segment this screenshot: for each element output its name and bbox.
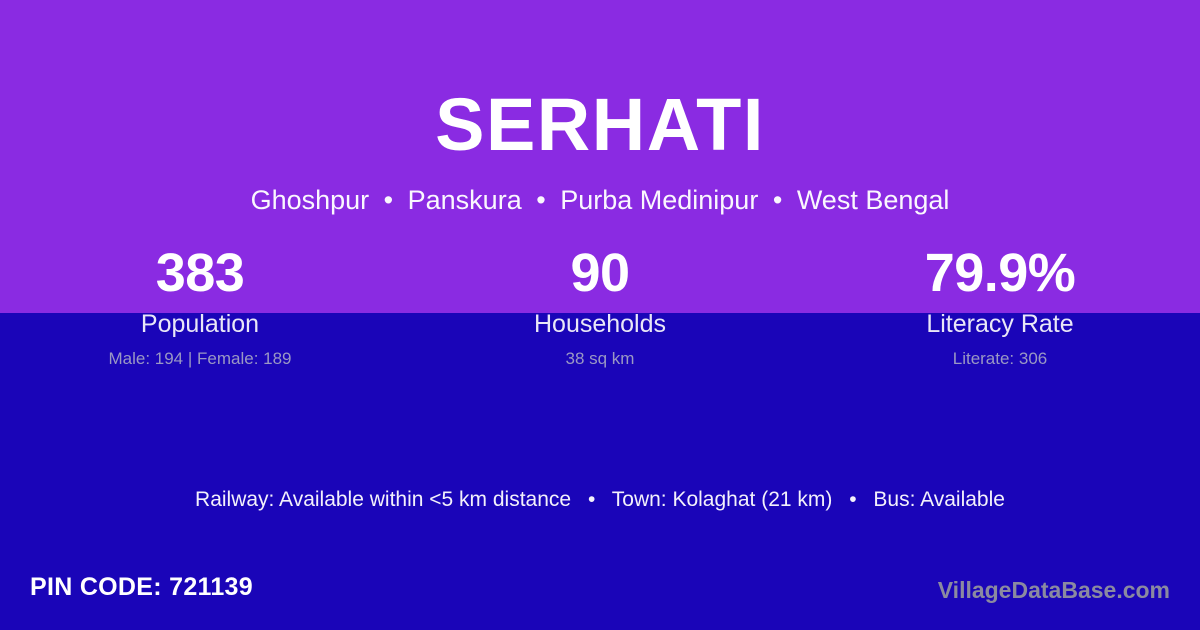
breadcrumb-item-block: Panskura [408,185,522,215]
amenity-railway: Railway: Available within <5 km distance [195,488,571,511]
breadcrumb: Ghoshpur • Panskura • Purba Medinipur • … [0,183,1200,217]
amenity-bus: Bus: Available [873,488,1005,511]
stat-label: Households [400,309,800,339]
stat-label: Population [0,309,400,339]
stat-value: 383 [0,240,400,306]
stat-sublabel: Literate: 306 [800,348,1200,369]
stat-population: 383 Population Male: 194 | Female: 189 [0,240,400,385]
breadcrumb-item-state: West Bengal [797,185,950,215]
stat-value: 90 [400,240,800,306]
stats-row: 383 Population Male: 194 | Female: 189 9… [0,240,1200,385]
amenities-line: Railway: Available within <5 km distance… [0,486,1200,514]
amenity-separator-icon: • [838,486,867,514]
amenity-nearest-town: Town: Kolaghat (21 km) [612,488,833,511]
stat-value: 79.9% [800,240,1200,306]
stat-sublabel: 38 sq km [400,348,800,369]
footer: PIN CODE: 721139 VillageDataBase.com [0,558,1200,630]
amenity-separator-icon: • [577,486,606,514]
site-watermark: VillageDataBase.com [938,576,1170,604]
stat-households: 90 Households 38 sq km [400,240,800,385]
pin-code: PIN CODE: 721139 [30,572,253,602]
breadcrumb-separator-icon: • [529,183,552,217]
breadcrumb-separator-icon: • [766,183,789,217]
breadcrumb-item-district: Purba Medinipur [560,185,758,215]
village-info-card: SERHATI Ghoshpur • Panskura • Purba Medi… [0,0,1200,630]
page-title: SERHATI [0,83,1200,167]
stat-sublabel: Male: 194 | Female: 189 [0,348,400,369]
stat-label: Literacy Rate [800,309,1200,339]
stat-literacy-rate: 79.9% Literacy Rate Literate: 306 [800,240,1200,385]
breadcrumb-separator-icon: • [377,183,400,217]
breadcrumb-item-gram-panchayat: Ghoshpur [251,185,370,215]
